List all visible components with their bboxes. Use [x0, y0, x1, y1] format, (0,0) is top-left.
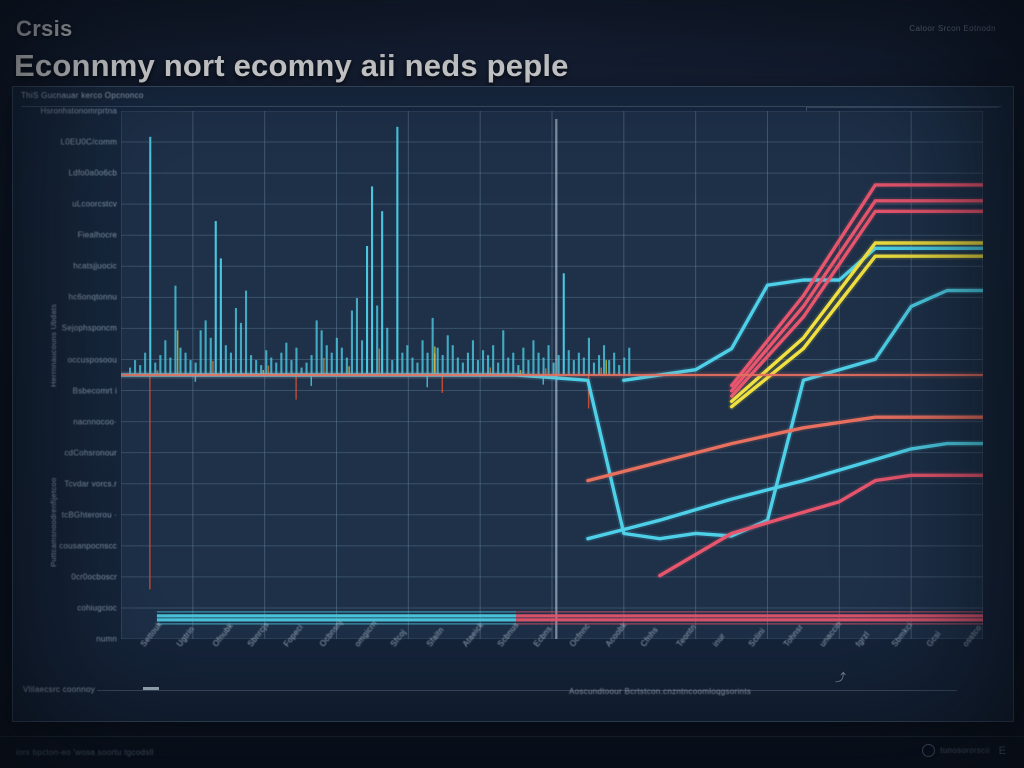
y-axis-tick: nacnnocoo· — [73, 417, 117, 426]
plot-area[interactable] — [121, 111, 983, 639]
y-axis-tick: Sejophsponcm — [62, 324, 117, 333]
y-axis-tick: cousanpocnscc — [59, 541, 117, 550]
x-axis-title: Aoscundtoour Bcrtstcon.cnzntncoomloqgsor… — [569, 687, 751, 696]
y-axis-tick: hc6onqtonnu — [69, 293, 117, 302]
legend-label: Vlilaecsrc coonnoy — [23, 685, 95, 694]
bar-series — [129, 127, 630, 590]
chart-card-title: ThiS Gucnauar kerco Opcnonco — [21, 91, 144, 100]
y-axis-tick: Tcvdar vorcs.r — [64, 479, 117, 488]
y-axis-tick: Bsbecomrt i — [73, 386, 117, 395]
y-axis-tick: cdCohsronour — [64, 448, 117, 457]
legend-divider — [97, 690, 957, 691]
brand-block: tunosororscii E — [922, 744, 1006, 757]
y-axis-tick: Fiealhocre — [78, 231, 117, 240]
brand-label: tunosororscii — [940, 746, 989, 755]
screenshot-root: Crsis Econnmy nort ecomny aii neds peple… — [0, 0, 1024, 768]
y-axis-tick: uLcoorcstcv — [72, 200, 117, 209]
plot-svg — [121, 111, 983, 639]
circle-logo-icon — [922, 744, 935, 757]
y-axis-tick: L0EU0C/comm — [61, 138, 117, 147]
footer-divider — [0, 736, 1024, 737]
header-corner-note: Caloor Srcon Eotnodn — [909, 24, 996, 33]
y-axis-tick: tcBGhterorou · — [62, 510, 117, 519]
page-title: Econnmy nort ecomny aii neds peple — [14, 48, 569, 84]
y-axis-tick: hcatsjjuocic — [73, 262, 117, 271]
y-axis-tick: occusposoou — [68, 355, 117, 364]
kicker-label: Crsis — [16, 16, 73, 42]
axis-arrow-icon: ⤴ — [835, 669, 846, 685]
brand-glyph: E — [999, 745, 1006, 757]
y-axis-tick-labels: HsronhstonomrprtnaL0EU0C/commLdfo0a0o6cb… — [13, 111, 117, 639]
y-axis-tick: Ldfo0a0o6cb — [69, 169, 117, 178]
legend-swatch — [143, 687, 159, 690]
x-axis-tick-labels: SettoukUgtrinOfnubkSbnrcjsFopeciOcbnsnjo… — [121, 643, 983, 705]
chart-card: ThiS Gucnauar kerco Opcnonco Onomormr dt… — [12, 86, 1014, 722]
y-axis-tick: cohiugcioc — [77, 603, 117, 612]
y-axis-tick: Hsronhstonomrprtna — [40, 107, 117, 116]
y-axis-title-lower: Puttcamsnoodrenfijetcoo — [49, 478, 58, 567]
y-axis-tick: 0cr0ocboscr — [71, 572, 117, 581]
y-axis-tick: numn — [96, 635, 117, 644]
y-axis-title-upper: Herrnnaucouns Ubdats — [49, 304, 58, 387]
footer-note: iors bpcton-eo 'wosa soortu tgcodsll — [16, 748, 154, 757]
bottom-bands — [157, 612, 983, 624]
